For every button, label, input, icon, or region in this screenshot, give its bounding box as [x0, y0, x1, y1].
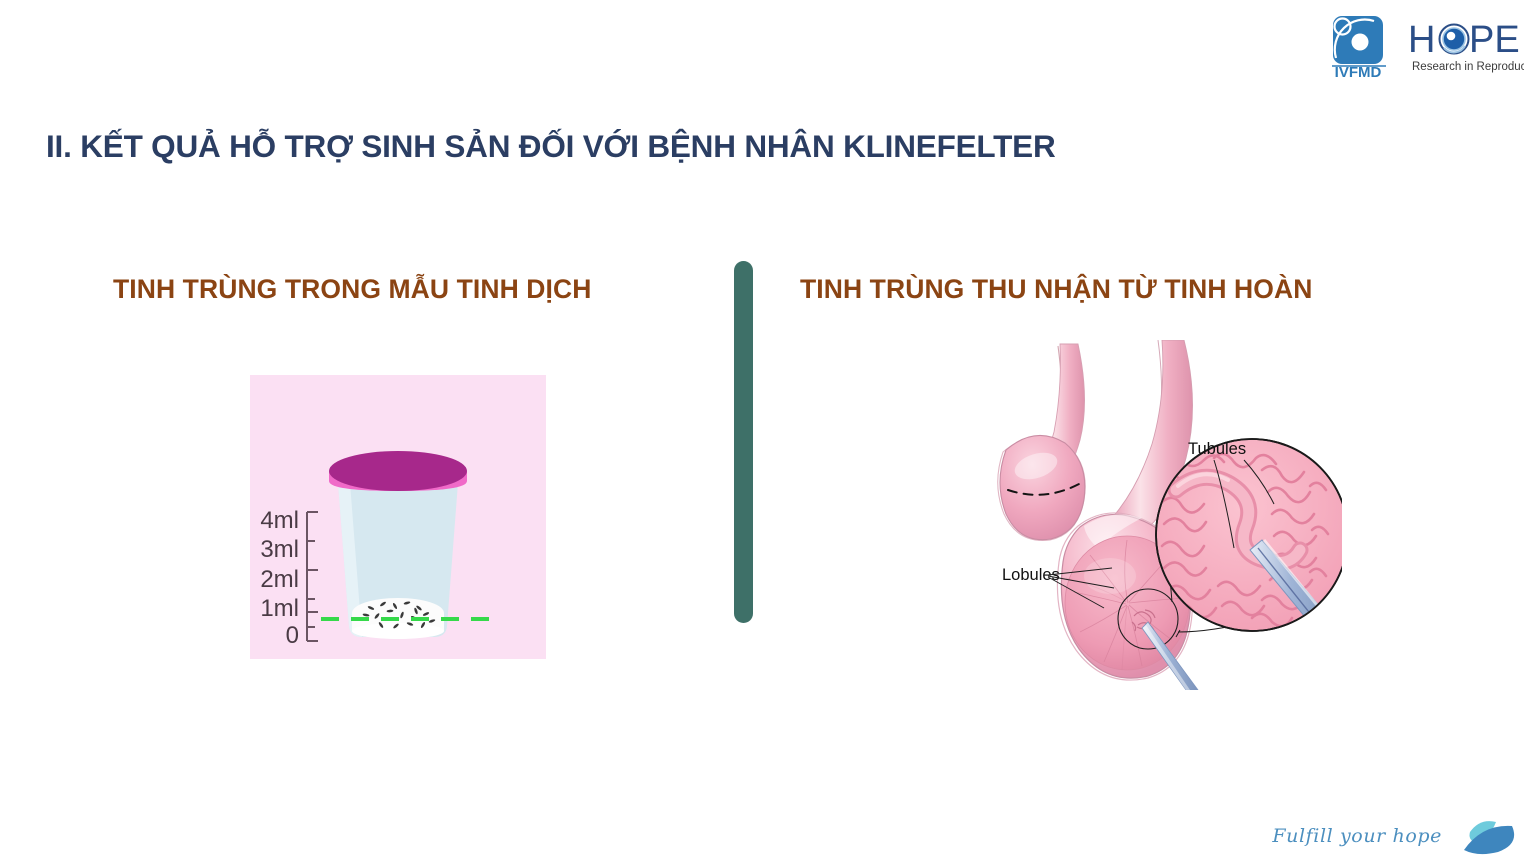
- scale-label-2ml: 2ml: [260, 566, 299, 593]
- footer-brand-group: Fulfill your hope: [1272, 816, 1526, 856]
- hope-eye-icon: [1440, 25, 1469, 54]
- ivfmd-logo-icon: IVFMD: [1330, 14, 1394, 80]
- leaf-logo-icon: [1454, 816, 1526, 856]
- hope-wordmark-h: H: [1408, 19, 1435, 61]
- scale-label-4ml: 4ml: [260, 507, 299, 534]
- scale-label-1ml: 1ml: [260, 595, 299, 622]
- volume-scale: [307, 512, 318, 641]
- hope-wordmark-pe: PE: [1469, 19, 1520, 61]
- brand-logo-group: IVFMD H PE Research in Reproduction: [1330, 14, 1524, 80]
- testis-anatomy-graphic: Tubules Lobules: [962, 340, 1342, 690]
- cup-lid-top: [329, 451, 467, 491]
- label-tubules-text: Tubules: [1188, 440, 1246, 458]
- specimen-cup-graphic: 4ml 3ml 2ml 1ml 0: [250, 375, 546, 659]
- column-divider: [734, 261, 753, 623]
- column-heading-semen: TINH TRÙNG TRONG MẪU TINH DỊCH: [113, 274, 592, 305]
- volume-scale-labels: 4ml 3ml 2ml 1ml 0: [260, 507, 299, 649]
- testis-anatomy-illustration: Tubules Lobules: [962, 340, 1342, 690]
- footer-tagline: Fulfill your hope: [1272, 825, 1442, 847]
- hope-logo: H PE Research in Reproduction: [1408, 16, 1524, 78]
- scale-label-3ml: 3ml: [260, 536, 299, 563]
- hope-tagline: Research in Reproduction: [1412, 61, 1524, 73]
- scale-label-0: 0: [286, 622, 299, 649]
- semen-sample-cup-illustration: 4ml 3ml 2ml 1ml 0: [250, 375, 546, 659]
- page-title: II. KẾT QUẢ HỖ TRỢ SINH SẢN ĐỐI VỚI BỆNH…: [46, 128, 1056, 165]
- column-heading-testicular: TINH TRÙNG THU NHẬN TỪ TINH HOÀN: [800, 274, 1312, 305]
- left-testis-group: [998, 344, 1085, 540]
